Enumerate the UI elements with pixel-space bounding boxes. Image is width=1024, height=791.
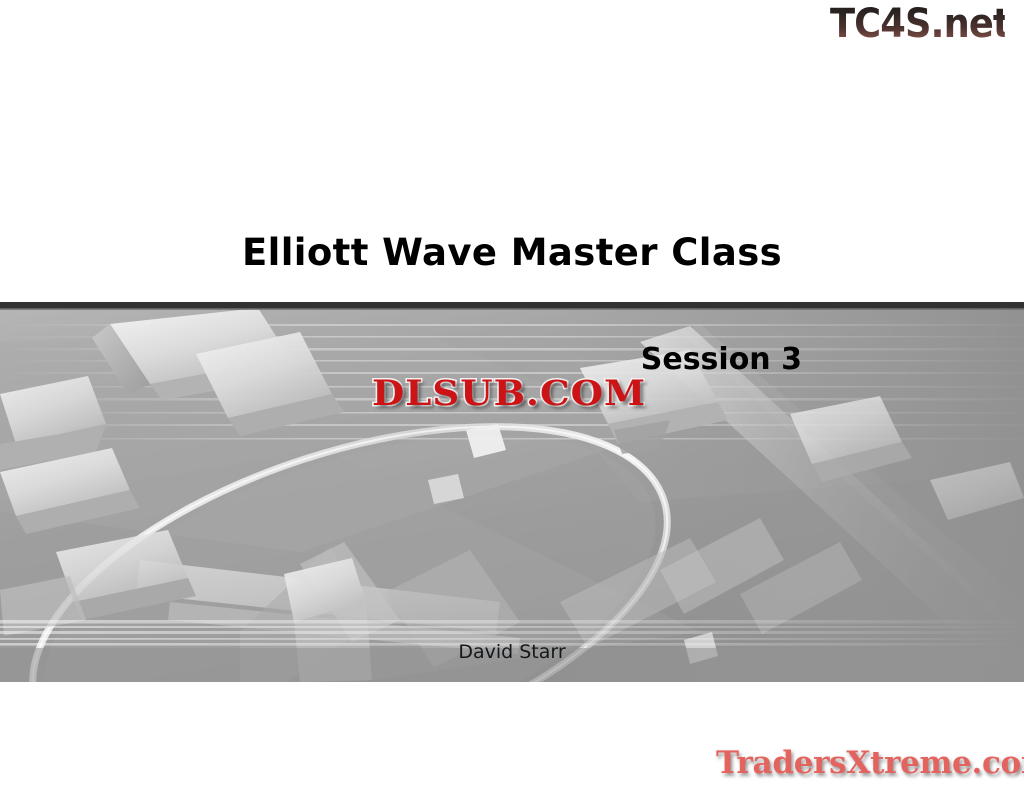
presentation-slide: TC4S.net Elliott Wave Master Class — [0, 0, 1024, 791]
page-title: Elliott Wave Master Class — [0, 231, 1024, 274]
session-label: Session 3 — [0, 342, 1024, 377]
dlsub-watermark: DLSUB.COM — [372, 374, 646, 414]
tc4s-watermark: TC4S.net — [830, 2, 1005, 48]
presenter-name: David Starr — [0, 641, 1024, 663]
tradersxtreme-watermark: TradersXtreme.com — [716, 744, 1024, 782]
